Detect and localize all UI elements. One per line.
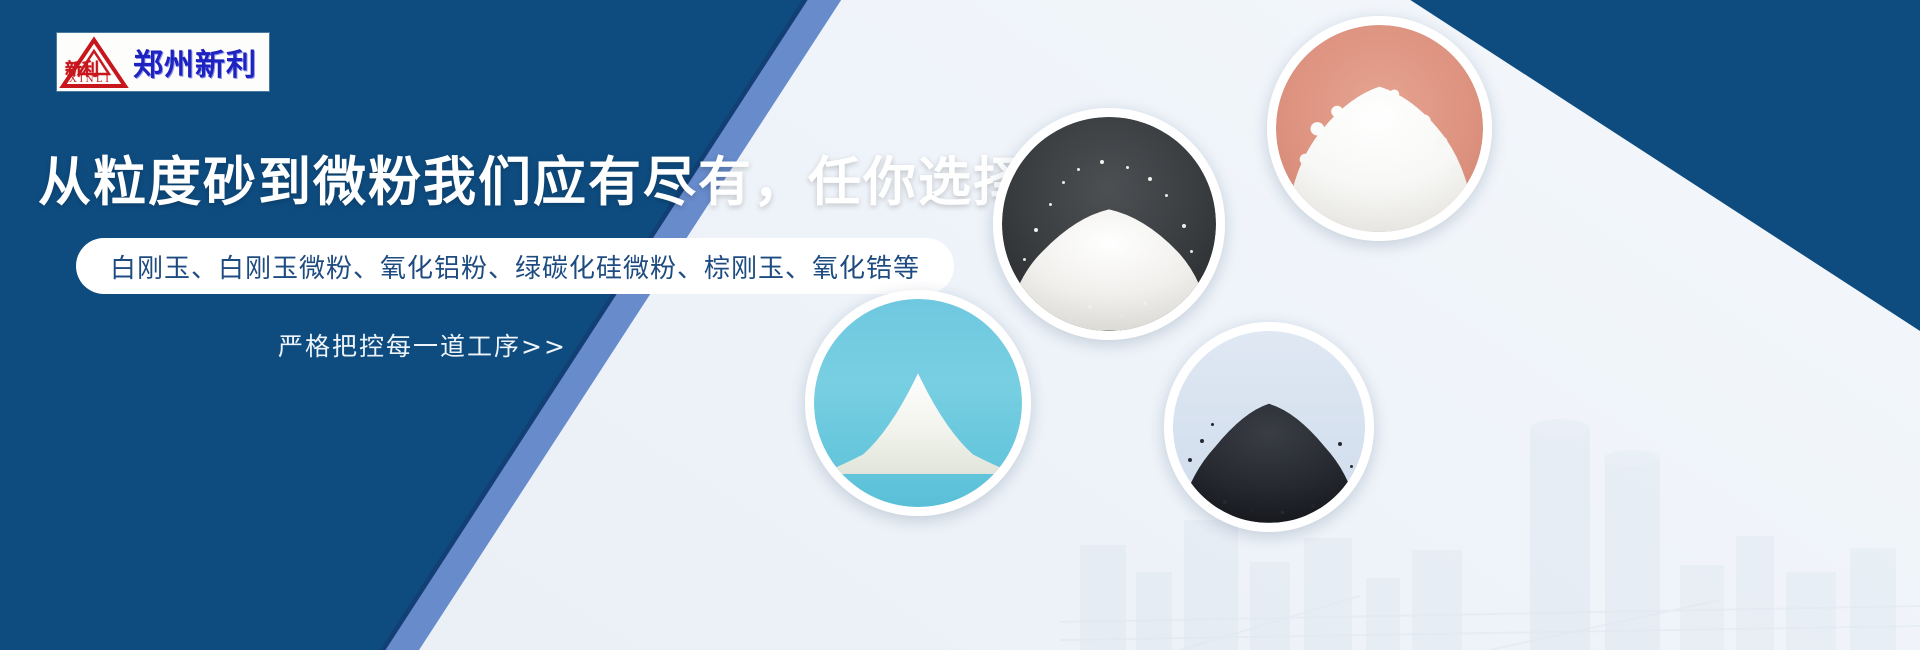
circle-micro-powder bbox=[805, 290, 1031, 516]
page-title: 从粒度砂到微粉我们应有尽有，任你选择 bbox=[38, 140, 1028, 216]
product-list-text: 白刚玉、白刚玉微粉、氧化铝粉、绿碳化硅微粉、棕刚玉、氧化锆等 bbox=[110, 248, 920, 285]
process-link[interactable]: 严格把控每一道工序>> bbox=[278, 327, 567, 363]
product-list-pill: 白刚玉、白刚玉微粉、氧化铝粉、绿碳化硅微粉、棕刚玉、氧化锆等 bbox=[76, 238, 954, 294]
zhengzhou-xinli-logo[interactable]: 新利 XINLI 郑州新利 bbox=[57, 33, 269, 91]
logo-wordmark: 郑州新利 bbox=[133, 40, 257, 84]
promo-banner: 新利 XINLI 郑州新利 从粒度砂到微粉我们应有尽有，任你选择 白刚玉、白刚玉… bbox=[0, 0, 1920, 650]
circle-black-grit bbox=[1164, 322, 1374, 532]
circle-white-grit bbox=[993, 108, 1225, 340]
xinli-triangle-icon: 新利 XINLI bbox=[57, 34, 131, 90]
circle-white-powder bbox=[1267, 16, 1492, 241]
logo-mark-text-en: XINLI bbox=[69, 73, 111, 85]
